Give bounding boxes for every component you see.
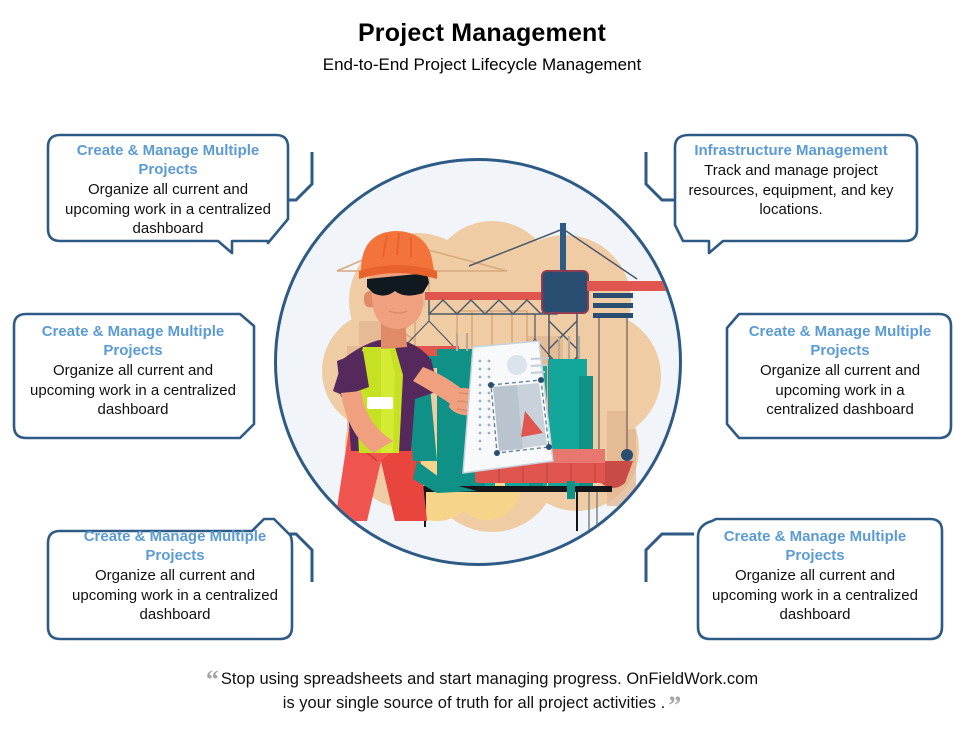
callout-heading: Create & Manage Multiple Projects	[739, 322, 941, 360]
callout-heading: Create & Manage Multiple Projects	[702, 527, 928, 565]
footer-quote-text-1: Stop using spreadsheets and start managi…	[221, 670, 758, 688]
callout-text-block: Infrastructure Management Track and mana…	[671, 141, 911, 220]
callout-text-block: Create & Manage Multiple Projects Organi…	[729, 322, 951, 420]
footer-quote: “Stop using spreadsheets and start manag…	[0, 668, 964, 716]
callout-body: Organize all current and upcoming work i…	[60, 180, 276, 239]
callout-body: Organize all current and upcoming work i…	[62, 566, 288, 625]
callout-create-manage-multiple-projects-top-left[interactable]: Create & Manage Multiple Projects Organi…	[46, 133, 290, 255]
callout-body: Organize all current and upcoming work i…	[24, 361, 242, 420]
page-subtitle: End-to-End Project Lifecycle Management	[0, 55, 964, 75]
page-title: Project Management	[0, 18, 964, 48]
callout-create-manage-multiple-projects-bottom-left[interactable]: Create & Manage Multiple Projects Organi…	[46, 517, 304, 643]
callout-text-block: Create & Manage Multiple Projects Organi…	[50, 141, 286, 239]
center-circle	[274, 158, 682, 566]
footer-quote-text-2: is your single source of truth for all p…	[283, 694, 665, 712]
callout-create-manage-multiple-projects-mid-right[interactable]: Create & Manage Multiple Projects Organi…	[723, 312, 955, 442]
construction-worker-blueprint-illustration	[277, 161, 682, 566]
callout-create-manage-multiple-projects-mid-left[interactable]: Create & Manage Multiple Projects Organi…	[10, 312, 256, 442]
callout-body: Track and manage project resources, equi…	[681, 161, 901, 220]
callout-text-block: Create & Manage Multiple Projects Organi…	[52, 527, 298, 625]
callout-heading: Infrastructure Management	[681, 141, 901, 160]
callout-heading: Create & Manage Multiple Projects	[60, 141, 276, 179]
callout-text-block: Create & Manage Multiple Projects Organi…	[692, 527, 938, 625]
callout-infrastructure-management[interactable]: Infrastructure Management Track and mana…	[663, 133, 919, 255]
header: Project Management End-to-End Project Li…	[0, 18, 964, 75]
footer-quote-line-2: is your single source of truth for all p…	[0, 692, 964, 716]
infographic-canvas: Project Management End-to-End Project Li…	[0, 0, 964, 734]
footer-quote-line-1: “Stop using spreadsheets and start manag…	[0, 668, 964, 692]
callout-body: Organize all current and upcoming work i…	[702, 566, 928, 625]
center-circle-frame	[274, 158, 682, 566]
callout-text-block: Create & Manage Multiple Projects Organi…	[14, 322, 252, 420]
callout-create-manage-multiple-projects-bottom-right[interactable]: Create & Manage Multiple Projects Organi…	[686, 517, 944, 643]
callout-heading: Create & Manage Multiple Projects	[62, 527, 288, 565]
callout-body: Organize all current and upcoming work i…	[739, 361, 941, 420]
callout-heading: Create & Manage Multiple Projects	[24, 322, 242, 360]
quote-close-icon: ”	[668, 691, 681, 720]
quote-open-icon: “	[206, 665, 219, 694]
